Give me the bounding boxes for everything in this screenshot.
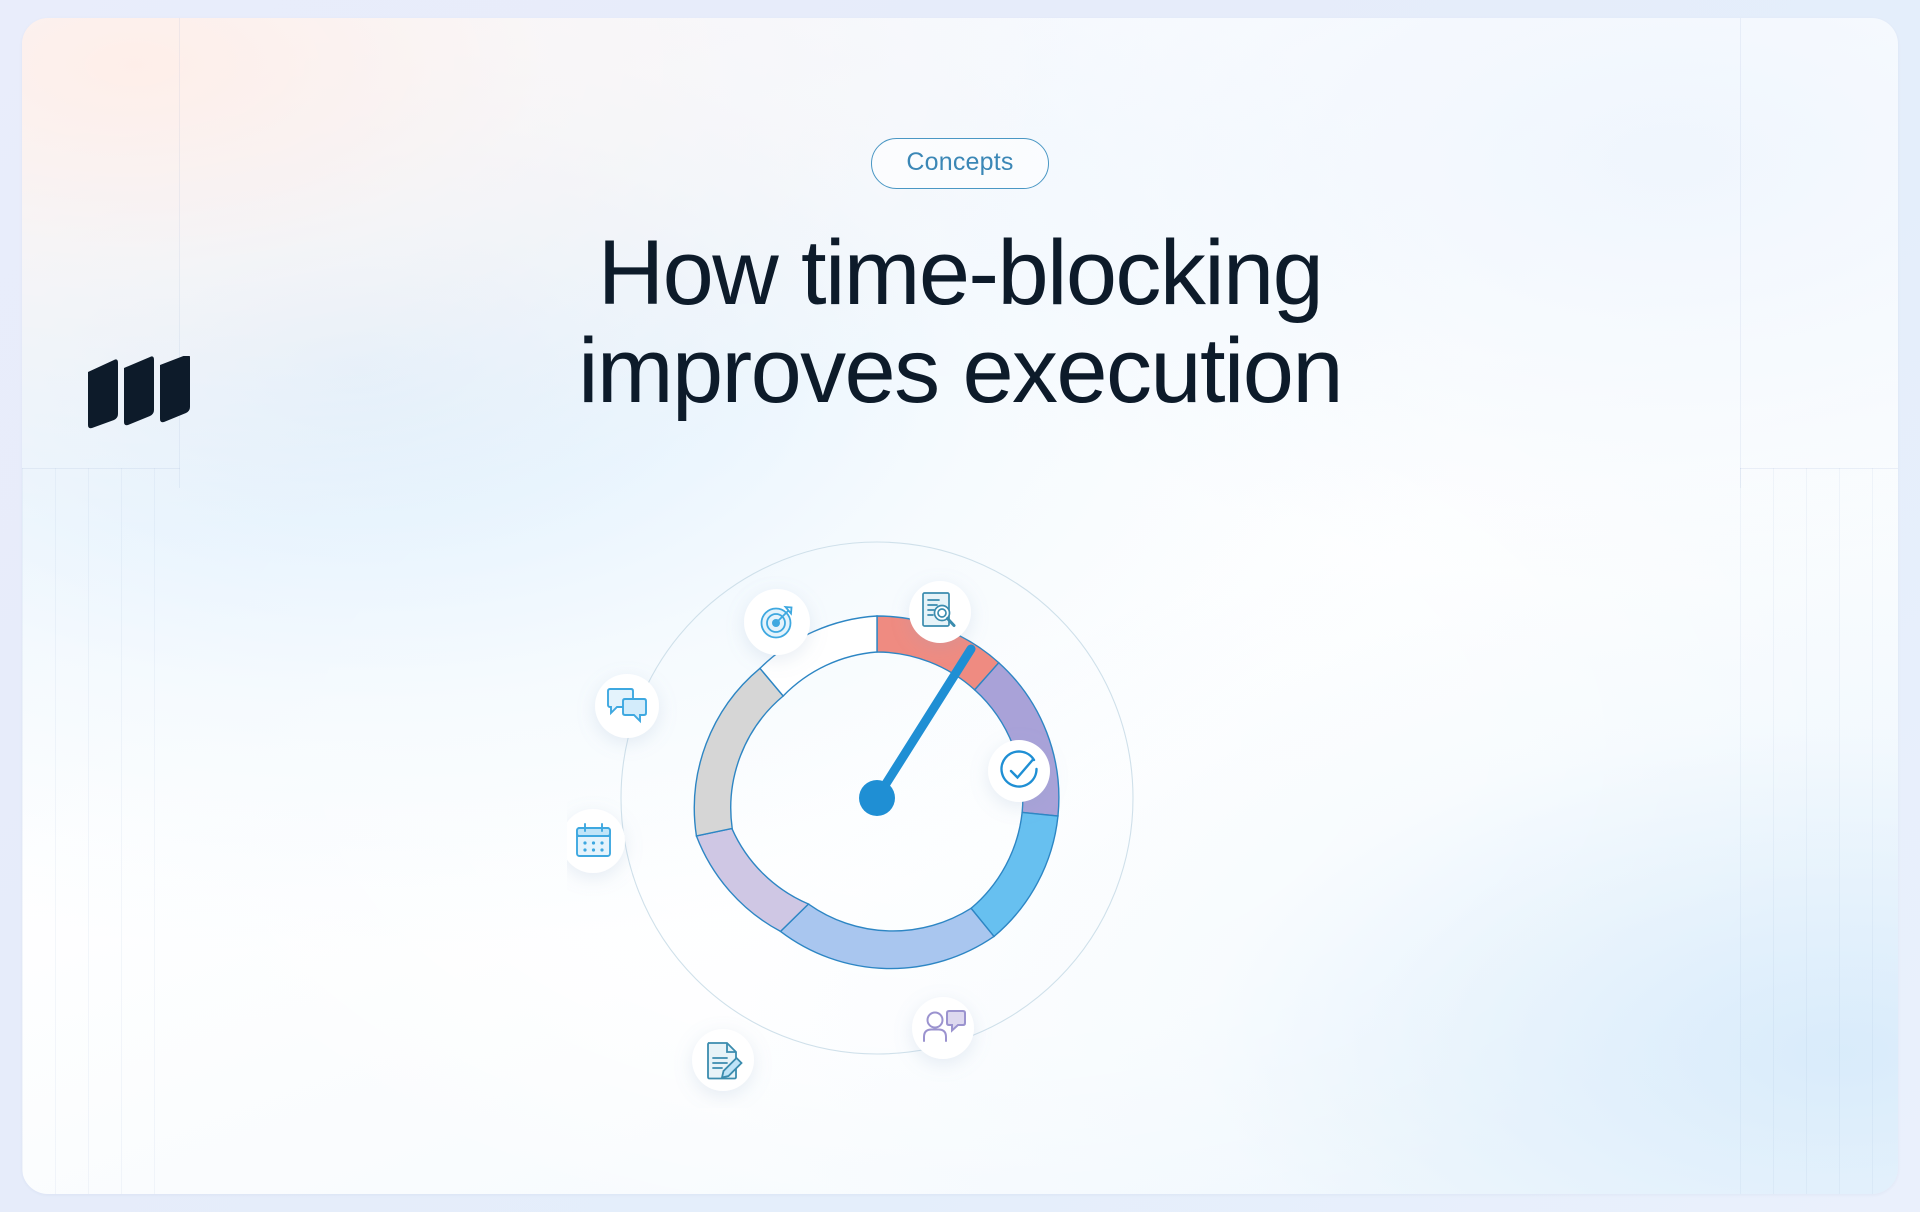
hero-card: Concepts How time-blocking improves exec… (22, 18, 1898, 1194)
gauge-svg (567, 488, 1187, 1108)
page-root: Concepts How time-blocking improves exec… (0, 0, 1920, 1212)
badge-calendar[interactable] (567, 809, 625, 873)
gauge-segment-blue (781, 904, 994, 969)
target-icon (762, 607, 792, 638)
badge-person-message[interactable] (912, 997, 974, 1059)
calendar-icon (577, 824, 610, 856)
badge-document-search[interactable] (909, 581, 971, 643)
decorative-stripes-right (1740, 468, 1898, 1194)
gauge-illustration (567, 488, 1187, 1108)
badge-document-edit[interactable] (692, 1029, 754, 1091)
document-search-icon (923, 593, 954, 626)
gauge-segment-grey (694, 668, 783, 836)
badge-check[interactable] (988, 740, 1050, 802)
decorative-stripes-left (22, 468, 180, 1194)
gauge-needle (859, 649, 971, 816)
page-title: How time-blocking improves execution (370, 225, 1550, 420)
gauge-segment-lavender (696, 828, 808, 931)
gauge-segment-skyblue (971, 812, 1058, 936)
category-badge[interactable]: Concepts (871, 138, 1048, 189)
badge-chat[interactable] (595, 674, 659, 738)
badge-target[interactable] (744, 589, 810, 655)
gauge-hub (859, 780, 895, 816)
hero-header: Concepts How time-blocking improves exec… (22, 18, 1898, 420)
